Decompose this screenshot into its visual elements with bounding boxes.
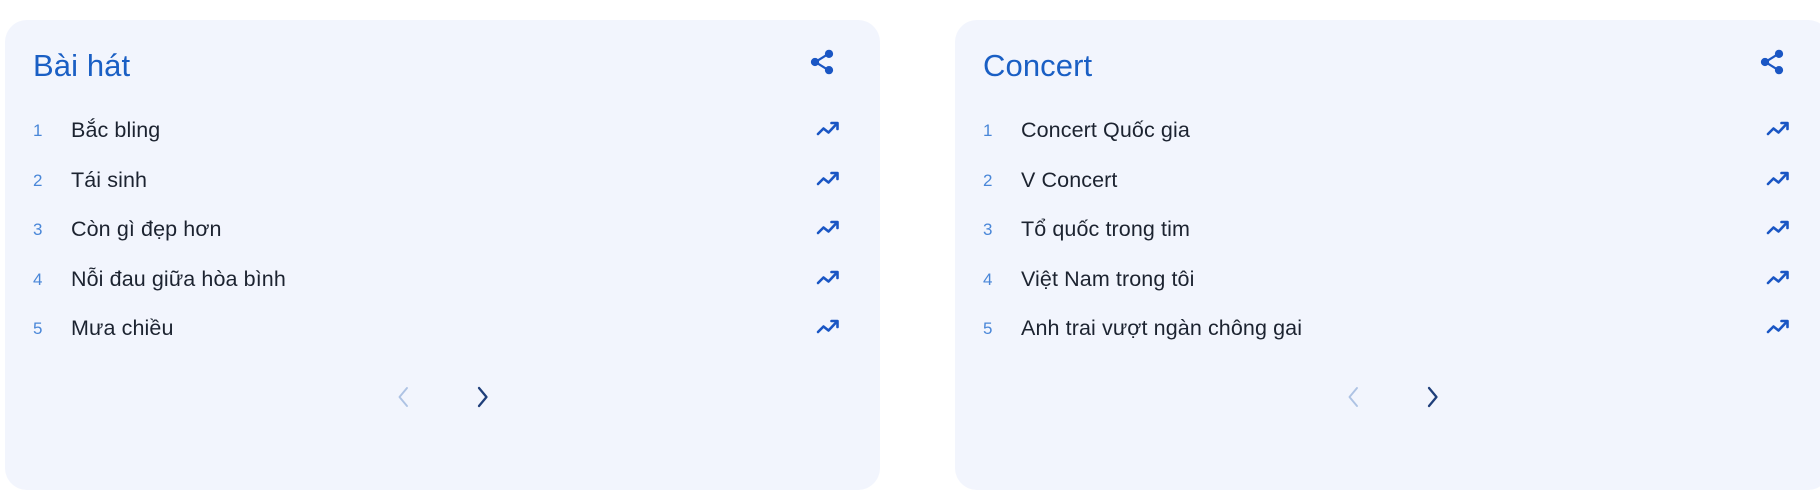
rank-number: 1 — [983, 122, 1021, 139]
chevron-left-icon — [1344, 384, 1364, 413]
list-item[interactable]: 1 Bắc bling — [33, 106, 842, 156]
trending-up-button[interactable] — [1758, 165, 1792, 195]
trending-up-icon — [816, 316, 842, 341]
page-title: Concert — [983, 43, 1092, 83]
trending-up-button[interactable] — [808, 116, 842, 146]
trending-up-icon — [1766, 316, 1792, 341]
trending-up-button[interactable] — [808, 314, 842, 344]
trending-up-button[interactable] — [1758, 314, 1792, 344]
rank-number: 4 — [33, 271, 71, 288]
list-item[interactable]: 2 V Concert — [983, 156, 1792, 206]
trend-card-concert: Concert 1 Concert Quốc gia — [955, 20, 1820, 490]
trending-up-icon — [816, 168, 842, 193]
list-item[interactable]: 2 Tái sinh — [33, 156, 842, 206]
rank-number: 2 — [33, 172, 71, 189]
trending-up-button[interactable] — [1758, 215, 1792, 245]
item-label: Mưa chiều — [71, 315, 808, 342]
item-label: Tổ quốc trong tim — [1021, 216, 1758, 243]
card-header: Bài hát — [5, 20, 880, 106]
list-item[interactable]: 4 Nỗi đau giữa hòa bình — [33, 255, 842, 305]
share-icon — [1758, 48, 1786, 79]
item-label: Bắc bling — [71, 117, 808, 144]
share-button[interactable] — [802, 43, 842, 83]
item-label: V Concert — [1021, 167, 1758, 194]
pagination-prev-button[interactable] — [1335, 380, 1373, 418]
rank-number: 4 — [983, 271, 1021, 288]
item-label: Còn gì đẹp hơn — [71, 216, 808, 243]
list-item[interactable]: 3 Tổ quốc trong tim — [983, 205, 1792, 255]
pagination — [5, 380, 880, 418]
rank-number: 5 — [983, 320, 1021, 337]
trending-up-button[interactable] — [808, 165, 842, 195]
list-item[interactable]: 1 Concert Quốc gia — [983, 106, 1792, 156]
trending-up-button[interactable] — [808, 264, 842, 294]
page-title: Bài hát — [33, 43, 130, 83]
pagination-next-button[interactable] — [1413, 380, 1451, 418]
item-label: Việt Nam trong tôi — [1021, 266, 1758, 293]
share-button[interactable] — [1752, 43, 1792, 83]
trending-up-icon — [1766, 118, 1792, 143]
trend-card-songs: Bài hát 1 Bắc bling — [5, 20, 880, 490]
chevron-left-icon — [394, 384, 414, 413]
rank-list: 1 Bắc bling 2 Tái sinh — [5, 106, 880, 354]
trending-up-icon — [816, 118, 842, 143]
trending-up-icon — [1766, 168, 1792, 193]
rank-number: 3 — [33, 221, 71, 238]
rank-number: 2 — [983, 172, 1021, 189]
pagination-prev-button[interactable] — [385, 380, 423, 418]
item-label: Nỗi đau giữa hòa bình — [71, 266, 808, 293]
trending-up-icon — [816, 267, 842, 292]
item-label: Tái sinh — [71, 167, 808, 194]
trending-up-button[interactable] — [1758, 264, 1792, 294]
rank-number: 1 — [33, 122, 71, 139]
pagination-next-button[interactable] — [463, 380, 501, 418]
list-item[interactable]: 3 Còn gì đẹp hơn — [33, 205, 842, 255]
trending-up-icon — [816, 217, 842, 242]
list-item[interactable]: 5 Anh trai vượt ngàn chông gai — [983, 304, 1792, 354]
trending-up-button[interactable] — [1758, 116, 1792, 146]
rank-number: 3 — [983, 221, 1021, 238]
trending-up-button[interactable] — [808, 215, 842, 245]
rank-number: 5 — [33, 320, 71, 337]
pagination — [955, 380, 1820, 418]
share-icon — [808, 48, 836, 79]
trends-panel: Bài hát 1 Bắc bling — [0, 0, 1820, 504]
chevron-right-icon — [1422, 384, 1442, 413]
card-header: Concert — [955, 20, 1820, 106]
chevron-right-icon — [472, 384, 492, 413]
item-label: Concert Quốc gia — [1021, 117, 1758, 144]
list-item[interactable]: 5 Mưa chiều — [33, 304, 842, 354]
trending-up-icon — [1766, 217, 1792, 242]
item-label: Anh trai vượt ngàn chông gai — [1021, 315, 1758, 342]
list-item[interactable]: 4 Việt Nam trong tôi — [983, 255, 1792, 305]
rank-list: 1 Concert Quốc gia 2 V Concert — [955, 106, 1820, 354]
trending-up-icon — [1766, 267, 1792, 292]
